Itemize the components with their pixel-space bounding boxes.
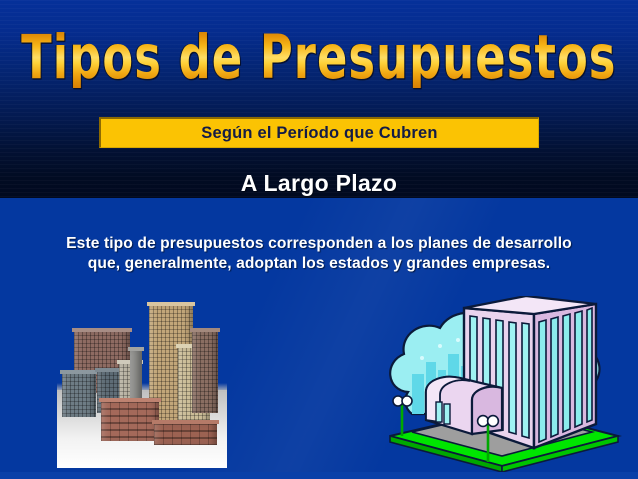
section-heading: A Largo Plazo [0,170,638,197]
skyline-gray-slab-left [62,373,96,417]
office-building-clipart [378,296,626,472]
skyline-tall-cyl-tower-cap [147,302,195,306]
body-paragraph: Este tipo de presupuestos corresponden a… [49,234,589,274]
skyline-brick-lowrise [101,401,159,441]
subtitle-banner-label: Según el Período que Cubren [201,124,437,143]
skyline-gray-spire [130,350,142,402]
skyline-brown-right-tower [192,331,218,413]
skyline-brick-wing [154,423,217,445]
skyline-brick-lowrise-cap [99,398,161,402]
lamp-post-left [393,396,412,436]
skyline-brown-right-tower-cap [190,328,220,332]
presentation-slide: Tipos de Presupuestos Según el Período q… [0,0,638,479]
skyline-brick-wing-cap [152,420,219,424]
slide-title-container: Tipos de Presupuestos [0,28,638,75]
office-building-illustration [378,296,626,472]
slide-title: Tipos de Presupuestos [21,28,616,88]
skyline-brown-tower-cap [72,328,132,332]
skyline-gray-slab-left-cap [60,370,98,374]
subtitle-banner: Según el Período que Cubren [99,117,539,148]
skyline-gray-spire-cap [128,347,144,351]
city-skyline-clipart [57,305,227,468]
background-footer-strip [0,472,638,479]
